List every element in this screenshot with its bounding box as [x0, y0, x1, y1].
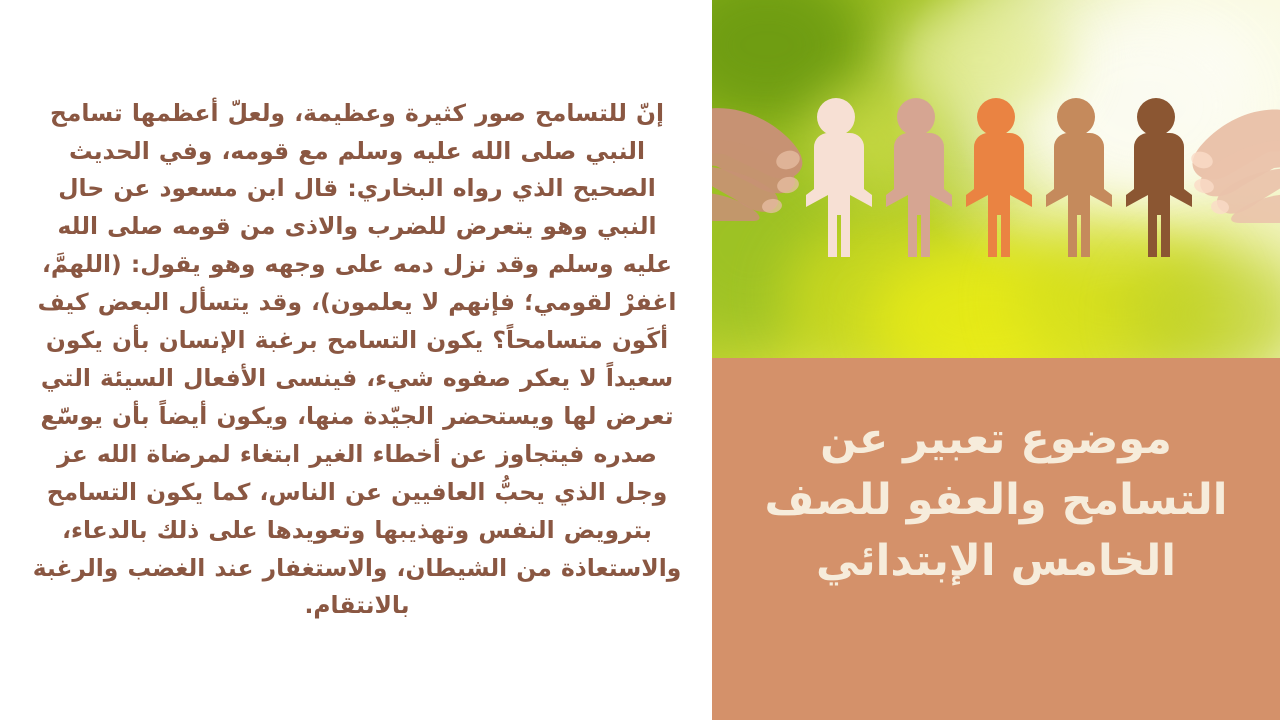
slide-root: إنّ للتسامح صور كثيرة وعظيمة، ولعلّ أعظم…	[0, 0, 1280, 720]
article-panel: إنّ للتسامح صور كثيرة وعظيمة، ولعلّ أعظم…	[0, 0, 712, 720]
slide-title: موضوع تعبير عن التسامح والعفو للصف الخام…	[746, 409, 1246, 592]
hero-photo	[712, 0, 1280, 363]
left-hand	[712, 96, 819, 221]
right-column: موضوع تعبير عن التسامح والعفو للصف الخام…	[712, 0, 1280, 720]
right-hand	[1174, 98, 1280, 223]
article-body-text: إنّ للتسامح صور كثيرة وعظيمة، ولعلّ أعظم…	[30, 95, 684, 626]
paper-figure-3	[960, 97, 1032, 297]
title-panel: موضوع تعبير عن التسامح والعفو للصف الخام…	[712, 363, 1280, 720]
paper-figure-4	[1040, 97, 1112, 297]
paper-figure-2	[880, 97, 952, 297]
